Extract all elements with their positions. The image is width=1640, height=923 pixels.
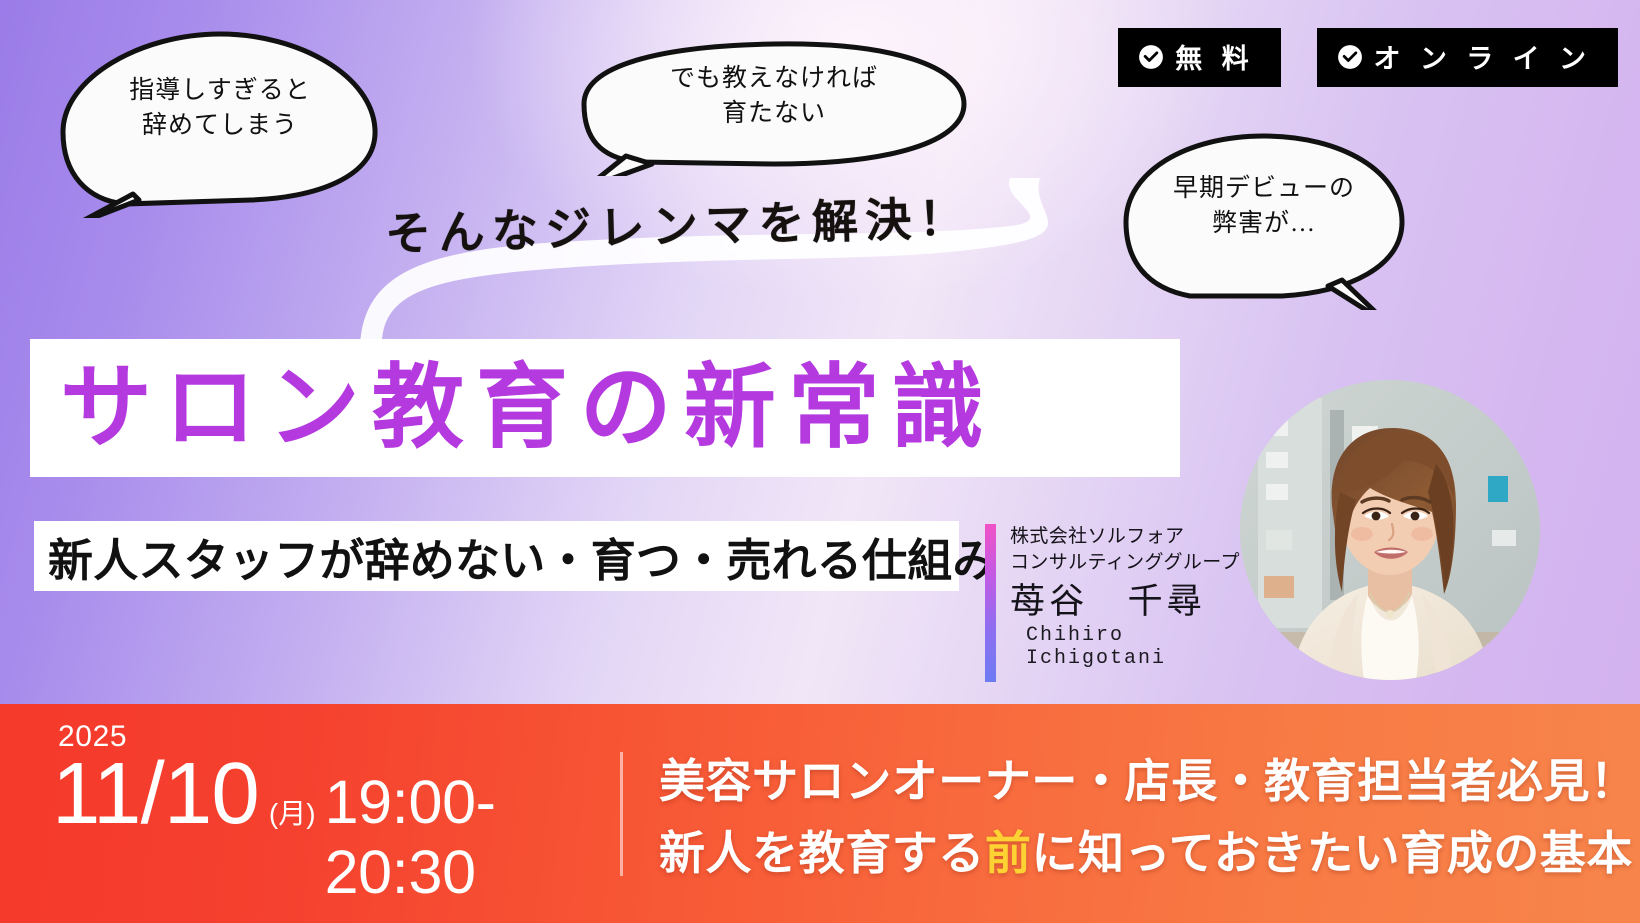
check-circle-icon	[1337, 44, 1363, 70]
check-circle-icon	[1138, 44, 1164, 70]
badge-group: 無 料 オ ン ラ イ ン	[1118, 28, 1618, 87]
bubble-text: 指導しすぎると 辞めてしまう	[129, 73, 311, 174]
footer-divider	[620, 752, 623, 876]
badge-free: 無 料	[1118, 28, 1280, 87]
message-highlight: 前	[985, 827, 1032, 879]
bubble-too-much-guidance: 指導しすぎると 辞めてしまう	[55, 28, 385, 218]
bubble-text: でも教えなければ 育たない	[670, 61, 878, 154]
page-title: サロン教育の新常識	[30, 362, 996, 454]
title-band: サロン教育の新常識	[30, 339, 1180, 477]
speaker-name-romaji: Chihiro Ichigotani	[1010, 624, 1245, 670]
footer-message-block: 美容サロンオーナー・店長・教育担当者必見！ 新人を教育する前に知っておきたい育成…	[659, 745, 1637, 883]
bubble-must-teach: でも教えなければ 育たない	[578, 38, 970, 176]
message-segment-after: に知っておきたい育成の基本	[1031, 827, 1633, 879]
footer-message-line1: 美容サロンオーナー・店長・教育担当者必見！	[659, 745, 1637, 811]
event-date-block: 2025 11/10 (月) 19:00-20:30	[0, 704, 620, 923]
hero-background: 指導しすぎると 辞めてしまう でも教えなければ 育たない 早期デビューの 弊害が…	[0, 0, 1640, 704]
event-day-of-week: (月)	[269, 792, 316, 832]
gradient-accent-bar	[985, 524, 996, 682]
speaker-avatar	[1240, 380, 1540, 680]
footer-bar: 2025 11/10 (月) 19:00-20:30 美容サロンオーナー・店長・…	[0, 704, 1640, 923]
page-subtitle: 新人スタッフが辞めない・育つ・売れる仕組み	[34, 524, 998, 589]
badge-online: オ ン ラ イ ン	[1317, 28, 1618, 87]
promo-banner: 指導しすぎると 辞めてしまう でも教えなければ 育たない 早期デビューの 弊害が…	[0, 0, 1640, 923]
bubble-text: 早期デビューの 弊害が…	[1173, 171, 1355, 270]
portrait-photo	[1240, 380, 1540, 680]
subtitle-band: 新人スタッフが辞めない・育つ・売れる仕組み	[34, 521, 959, 591]
bubble-early-debut: 早期デビューの 弊害が…	[1120, 130, 1408, 310]
footer-message-line2: 新人を教育する前に知っておきたい育成の基本	[659, 817, 1637, 883]
speaker-name-ja: 苺谷 千尋	[1010, 584, 1245, 621]
badge-label: 無 料	[1175, 37, 1254, 76]
speaker-info: 株式会社ソルフォア コンサルティンググループ 苺谷 千尋 Chihiro Ich…	[985, 524, 1245, 682]
badge-label: オ ン ラ イ ン	[1374, 37, 1592, 76]
event-date: 11/10	[52, 748, 259, 839]
speaker-company: 株式会社ソルフォア コンサルティンググループ	[1010, 524, 1245, 575]
message-segment-before: 新人を教育する	[659, 827, 985, 879]
event-time: 19:00-20:30	[325, 767, 620, 907]
